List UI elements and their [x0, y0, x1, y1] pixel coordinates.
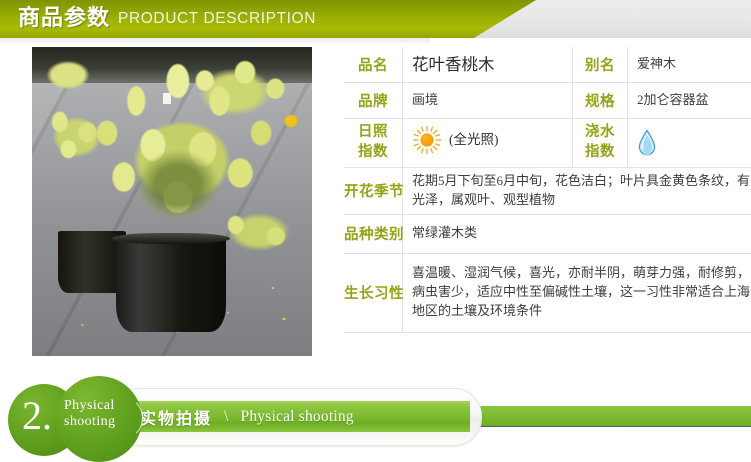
spec-label-guige: 规格 — [573, 83, 628, 119]
section-number-badge: 2. Physical shooting — [8, 376, 198, 456]
page-title-cn: 商品参数 — [18, 7, 110, 31]
spec-value-variety-type-cell: 常绿灌木类 — [403, 214, 751, 253]
table-row: 品种类别 常绿灌木类 — [344, 214, 751, 253]
spec-label-watering-line1: 浇水 — [573, 123, 627, 143]
spec-value-guige: 2加仑容器盆 — [628, 83, 751, 119]
page-title-en: PRODUCT DESCRIPTION — [118, 11, 316, 28]
spec-value-bieming: 爱神木 — [628, 47, 751, 83]
sun-icon — [412, 125, 442, 155]
spec-value-pinpai: 画境 — [403, 83, 573, 119]
water-drop-icon — [637, 129, 657, 157]
spec-label-blooming-season: 开花季节 — [344, 168, 403, 215]
spec-label-pinpai: 品牌 — [344, 83, 403, 119]
spec-value-sunlight: (全光照) — [403, 119, 573, 168]
spec-label-sunlight-line2: 指数 — [344, 143, 402, 163]
photo-yellow-flower — [284, 115, 298, 127]
table-row: 品名 花叶香桃木 别名 爱神木 — [344, 47, 751, 83]
spec-label-growth-habit: 生长习性 — [344, 253, 403, 332]
product-spec-table: 品名 花叶香桃木 别名 爱神木 品牌 画境 规格 2加仑容器盆 日照 指数 — [344, 47, 751, 333]
badge-label: Physical shooting — [64, 398, 115, 429]
table-row: 品牌 画境 规格 2加仑容器盆 — [344, 83, 751, 119]
spec-value-variety-type: 常绿灌木类 — [412, 220, 751, 247]
spec-label-sunlight-line1: 日照 — [344, 123, 402, 143]
product-photo — [32, 47, 312, 356]
spec-label-sunlight-index: 日照 指数 — [344, 119, 403, 168]
photo-shrub-shadow — [128, 139, 228, 231]
spec-label-watering-index: 浇水 指数 — [573, 119, 628, 168]
badge-label-line1: Physical — [64, 398, 115, 414]
badge-number: 2. — [22, 396, 52, 436]
spec-label-watering-line2: 指数 — [573, 143, 627, 163]
page-title: 商品参数 PRODUCT DESCRIPTION — [18, 0, 316, 38]
spec-value-pinming: 花叶香桃木 — [403, 47, 573, 83]
photo-shrub-topleft — [32, 51, 104, 99]
page-header: 商品参数 PRODUCT DESCRIPTION — [0, 0, 751, 38]
badge-label-line2: shooting — [64, 414, 115, 430]
table-row: 开花季节 花期5月下旬至6月中旬，花色洁白；叶片具金黄色条纹，有光泽，属观叶、观… — [344, 168, 751, 215]
spec-label-variety-type: 品种类别 — [344, 214, 403, 253]
table-row: 日照 指数 — [344, 119, 751, 168]
header-underline — [0, 38, 751, 43]
spec-value-growth-habit: 喜温暖、湿润气候，喜光，亦耐半阴，萌芽力强，耐修剪，病虫害少，适应中性至偏碱性土… — [412, 260, 751, 325]
table-row: 生长习性 喜温暖、湿润气候，喜光，亦耐半阴，萌芽力强，耐修剪，病虫害少，适应中性… — [344, 253, 751, 332]
footer-banner-en: Physical shooting — [241, 408, 354, 426]
spec-value-sunlight-note: (全光照) — [449, 130, 499, 150]
spec-value-growth-habit-cell: 喜温暖、湿润气候，喜光，亦耐半阴，萌芽力强，耐修剪，病虫害少，适应中性至偏碱性土… — [403, 253, 751, 332]
spec-value-watering — [628, 119, 751, 168]
spec-value-blooming-season-cell: 花期5月下旬至6月中旬，花色洁白；叶片具金黄色条纹，有光泽，属观叶、观型植物 — [403, 168, 751, 215]
spec-value-blooming-season: 花期5月下旬至6月中旬，花色洁白；叶片具金黄色条纹，有光泽，属观叶、观型植物 — [412, 168, 751, 214]
spec-label-pinming: 品名 — [344, 47, 403, 83]
spec-label-bieming: 别名 — [573, 47, 628, 83]
footer-banner-separator: \ — [224, 408, 229, 426]
section-footer: 实物拍摄 \ Physical shooting 2. Physical sho… — [0, 376, 751, 456]
